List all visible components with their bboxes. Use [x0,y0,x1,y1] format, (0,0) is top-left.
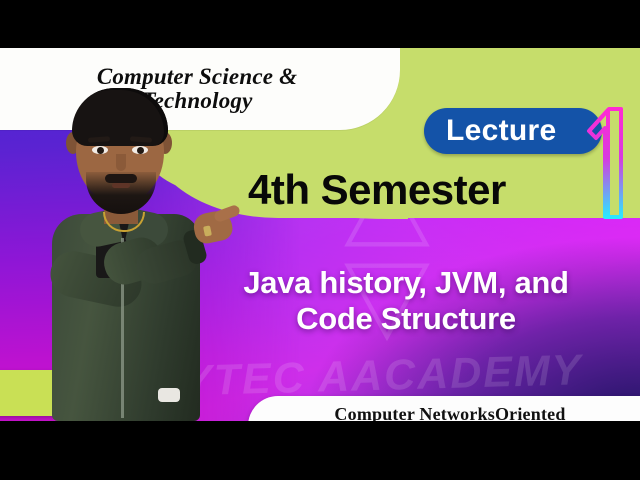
presenter-nose [116,154,126,171]
presenter-pupil-right [137,147,144,154]
topic-line-2: Code Structure [196,301,616,337]
lecture-badge-label: Lecture [446,114,556,148]
presenter-moustache [105,174,137,183]
presenter-wristwatch [158,388,180,402]
institution-line-1: Computer Science & [97,64,297,89]
presenter-lips [112,183,130,188]
video-thumbnail: STUDYTEC AACADEMY Computer Science & Tec… [0,0,640,480]
letterbox-bar-bottom [0,421,640,480]
semester-title: 4th Semester [248,166,506,214]
subject-card: Computer NetworksOriented Programming Us… [248,396,640,421]
subject-card-text: Computer NetworksOriented Programming Us… [334,404,565,421]
presenter-photo [8,88,238,421]
thumbnail-artwork: STUDYTEC AACADEMY Computer Science & Tec… [0,48,640,421]
letterbox-bar-top [0,0,640,48]
lecture-badge: Lecture [424,108,602,154]
subject-line-1: Computer NetworksOriented [334,404,565,421]
lecture-number-neon [578,100,638,226]
presenter-hair [72,88,168,146]
topic-line-1: Java history, JVM, and [243,265,568,300]
topic-title: Java history, JVM, and Code Structure [196,265,616,337]
presenter-pupil-left [97,147,104,154]
